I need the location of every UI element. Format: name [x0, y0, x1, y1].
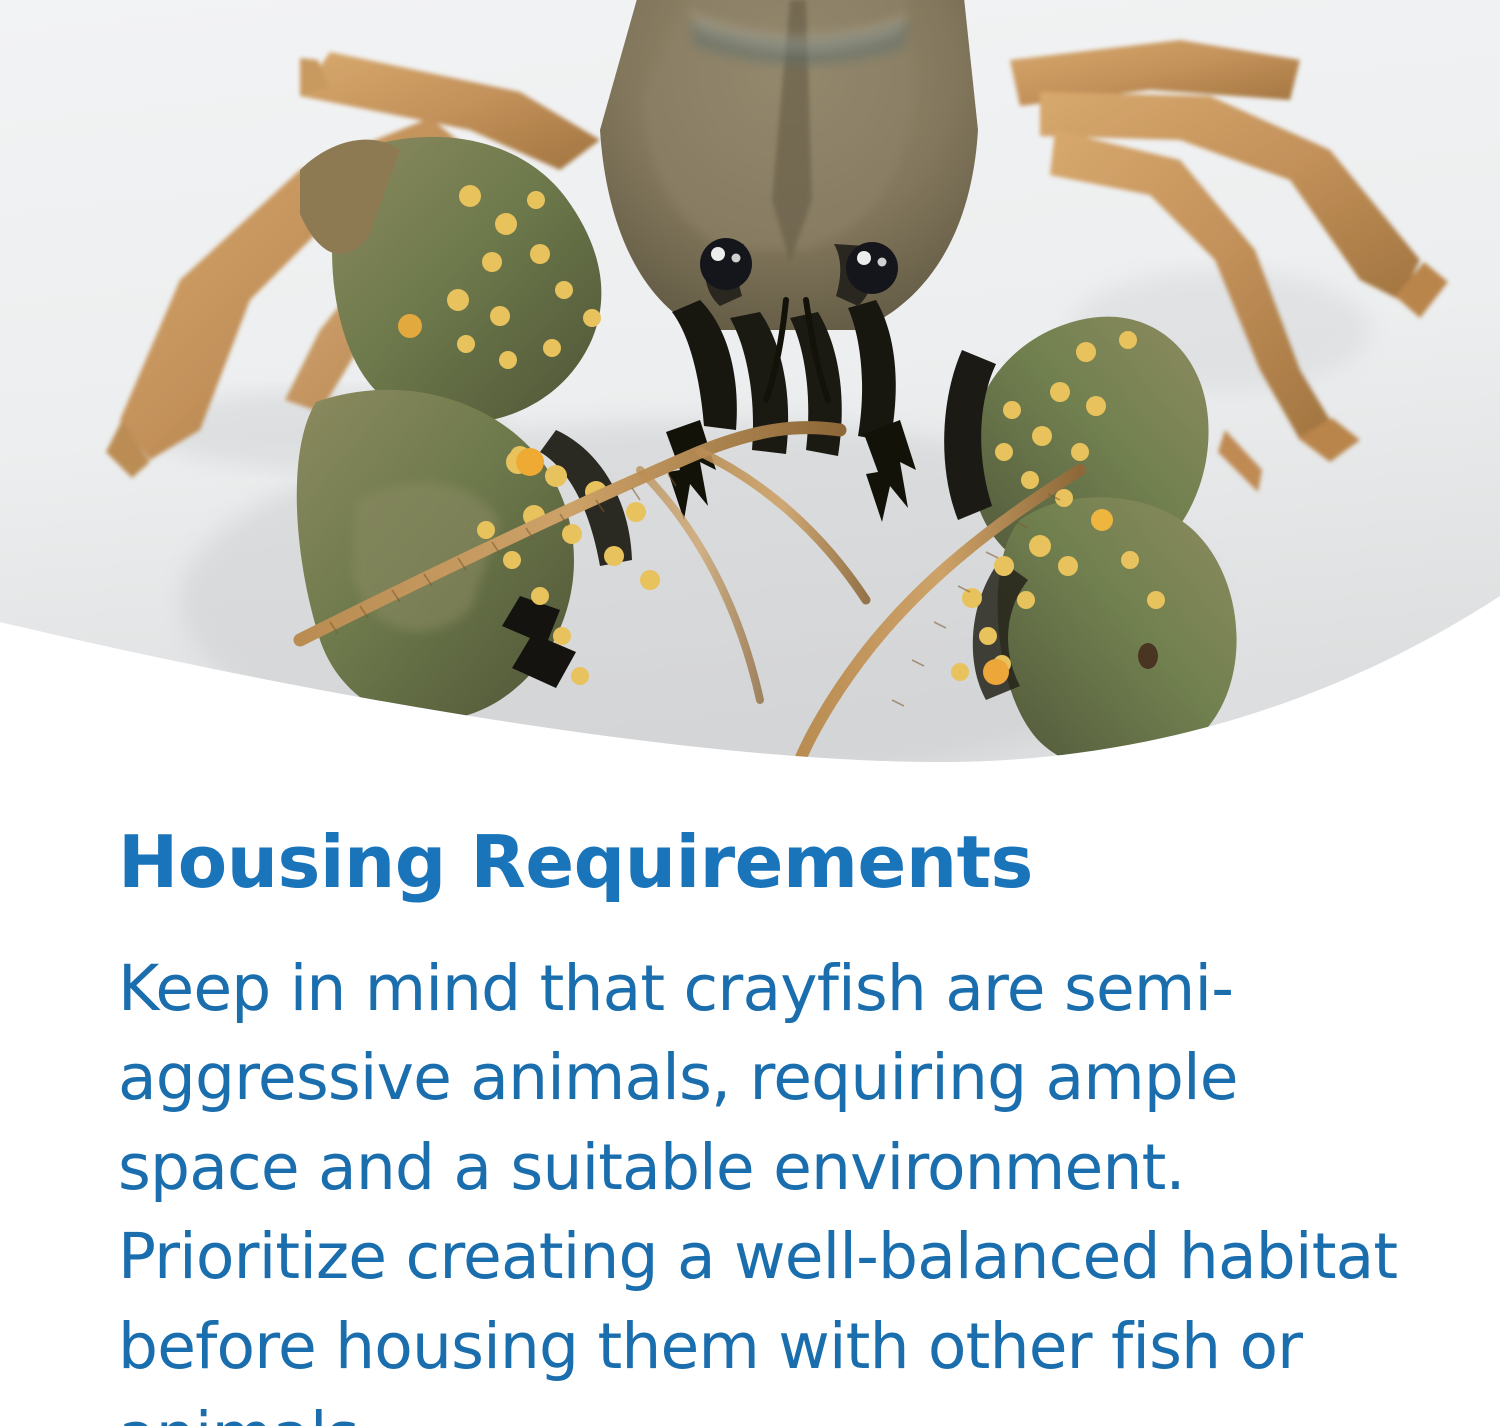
- page-title: Housing Requirements: [118, 826, 1408, 898]
- right-eye: [846, 242, 898, 294]
- article-text-block: Housing Requirements Keep in mind that c…: [118, 826, 1408, 1426]
- hero-image-container: [0, 0, 1500, 790]
- article-body-paragraph: Keep in mind that crayfish are semi-aggr…: [118, 898, 1398, 1426]
- article-card: Housing Requirements Keep in mind that c…: [0, 0, 1500, 1426]
- left-eye: [700, 238, 752, 290]
- crayfish-photo: [0, 0, 1500, 790]
- hero-image-wave-mask: [0, 0, 1500, 790]
